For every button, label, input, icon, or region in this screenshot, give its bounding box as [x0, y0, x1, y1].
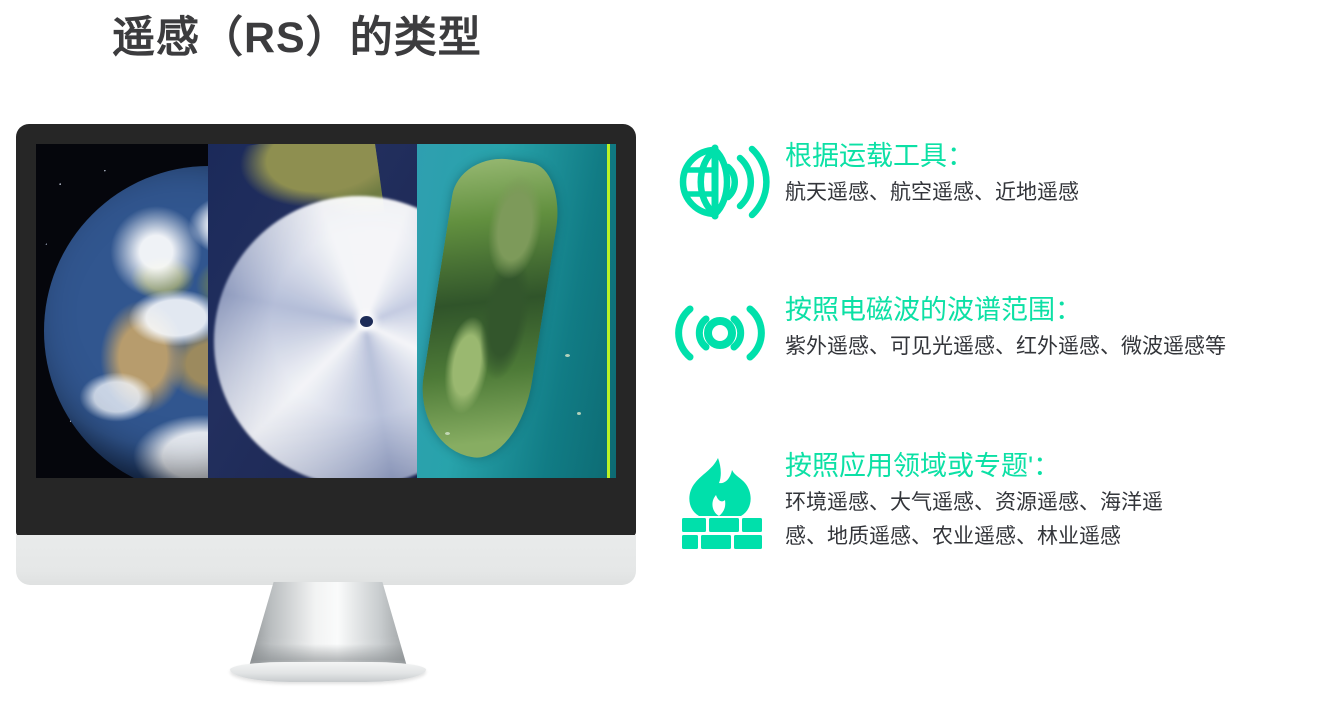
feature-body-line: 感、地质遥感、农业遥感、林业遥感 — [785, 520, 1215, 554]
islet-shape — [445, 432, 450, 435]
firewall-flame-icon — [655, 450, 785, 550]
feature-text-block: 根据运载工具： 航天遥感、航空遥感、近地遥感 — [785, 140, 1315, 210]
globe-signal-icon — [655, 140, 785, 220]
broadcast-signal-icon — [655, 294, 785, 368]
screen-image-hurricane-satellite — [208, 144, 417, 478]
monitor-bezel — [16, 124, 636, 536]
monitor-chin — [16, 535, 636, 585]
feature-heading: 按照应用领域或专题'： — [785, 450, 1315, 484]
feature-body: 紫外遥感、可见光遥感、红外遥感、微波遥感等 — [785, 330, 1305, 364]
feature-heading: 根据运载工具： — [785, 140, 1315, 174]
feature-body: 航天遥感、航空遥感、近地遥感 — [785, 176, 1305, 210]
monitor-screen — [36, 144, 616, 478]
screen-image-earth-from-space — [36, 144, 208, 478]
feature-list: 根据运载工具： 航天遥感、航空遥感、近地遥感 按照电磁波的波谱范围： 紫外遥感、… — [655, 136, 1315, 554]
feature-heading: 按照电磁波的波谱范围： — [785, 294, 1315, 328]
islet-shape — [577, 412, 581, 415]
feature-item-application-domain: 按照应用领域或专题'： 环境遥感、大气遥感、资源遥感、海洋遥 感、地质遥感、农业… — [655, 450, 1315, 554]
monitor-illustration — [16, 124, 636, 561]
islet-shape — [565, 354, 570, 357]
screen-edge-highlight — [607, 144, 610, 478]
screen-image-island-satellite — [417, 144, 616, 478]
monitor-stand-neck — [248, 582, 408, 670]
feature-body: 环境遥感、大气遥感、资源遥感、海洋遥 感、地质遥感、农业遥感、林业遥感 — [785, 486, 1215, 554]
hurricane-eye — [360, 316, 373, 327]
page-title: 遥感（RS）的类型 — [112, 12, 482, 66]
monitor-stand-base — [230, 662, 426, 682]
feature-text-block: 按照电磁波的波谱范围： 紫外遥感、可见光遥感、红外遥感、微波遥感等 — [785, 294, 1315, 364]
feature-item-carrier-platform: 根据运载工具： 航天遥感、航空遥感、近地遥感 — [655, 140, 1315, 220]
feature-body-line: 环境遥感、大气遥感、资源遥感、海洋遥 — [785, 486, 1215, 520]
feature-item-spectral-range: 按照电磁波的波谱范围： 紫外遥感、可见光遥感、红外遥感、微波遥感等 — [655, 294, 1315, 368]
feature-text-block: 按照应用领域或专题'： 环境遥感、大气遥感、资源遥感、海洋遥 感、地质遥感、农业… — [785, 450, 1315, 554]
